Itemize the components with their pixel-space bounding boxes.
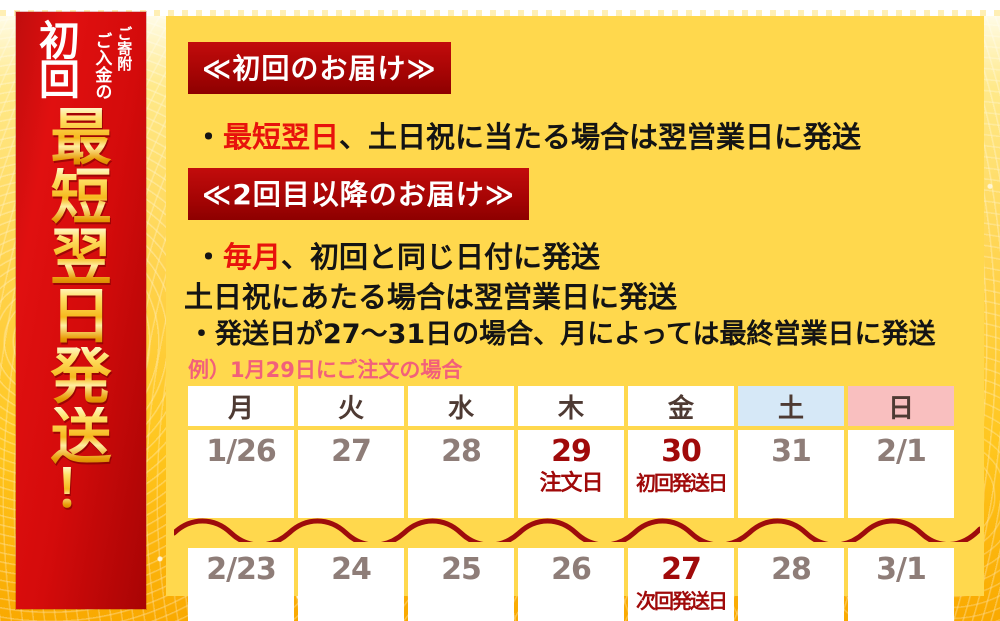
body-text: 、初回と同じ日付に発送	[281, 240, 600, 274]
calendar-cell: 24	[298, 548, 404, 621]
recurring-delivery-line-3: ・発送日が27〜31日の場合、月によっては最終営業日に発送	[188, 312, 935, 351]
first-delivery-line-1: ・最短翌日、土日祝に当たる場合は翌営業日に発送	[194, 114, 861, 156]
badge-side-label-2: ご寄附	[116, 26, 131, 71]
day-header-tue: 火	[298, 386, 404, 426]
highlight-text: 最短翌日	[223, 120, 339, 154]
date-number: 24	[331, 554, 371, 586]
headline-char-3: 日	[50, 287, 111, 347]
day-header-label: 火	[338, 388, 364, 425]
day-header-wed: 水	[408, 386, 514, 426]
badge-side-label-1: ご入金の	[92, 32, 109, 100]
date-number: 29	[551, 436, 591, 468]
day-header-label: 水	[448, 388, 474, 425]
date-number: 27	[661, 554, 701, 586]
date-tag: 初回発送日	[636, 472, 726, 494]
calendar-cell: 27	[298, 430, 404, 518]
body-text: 土日祝にあたる場合は翌営業日に発送	[184, 280, 677, 314]
calendar-cell: 31	[738, 430, 844, 518]
headline-char-2: 翌	[50, 228, 111, 288]
date-number: 28	[771, 554, 811, 586]
recurring-delivery-line-1: ・毎月、初回と同じ日付に発送	[194, 234, 600, 276]
example-label: 例）1月29日にご注文の場合	[188, 354, 462, 384]
calendar-cell: 28	[738, 548, 844, 621]
headline-char-1: 短	[50, 168, 111, 228]
day-header-sat: 土	[738, 386, 844, 426]
calendar-cell: 3/1	[848, 548, 954, 621]
calendar-cell-order-date: 29 注文日	[518, 430, 624, 518]
date-number: 27	[331, 436, 371, 468]
calendar-cell-first-ship-date: 30 初回発送日	[628, 430, 734, 518]
day-header-label: 木	[558, 388, 584, 425]
date-number: 31	[771, 436, 811, 468]
section-heading-first-delivery: ≪初回のお届け≫	[188, 42, 451, 94]
body-text: 発送日が27〜31日の場合、月によっては最終営業日に発送	[215, 319, 935, 350]
calendar-cell: 25	[408, 548, 514, 621]
promo-banner: 初回 ご入金の ご寄附 最 短 翌 日 発 送 ！ ≪初回のお届け≫ ・最短翌日…	[0, 0, 1000, 621]
date-tag: 注文日	[539, 472, 602, 496]
day-header-thu: 木	[518, 386, 624, 426]
section-heading-recurring-delivery: ≪2回目以降のお届け≫	[188, 168, 529, 220]
date-number: 28	[441, 436, 481, 468]
calendar-week-row-2: 2/23 24 25 26 27 次回発送日	[188, 548, 962, 621]
bullet-mark: ・	[194, 120, 223, 154]
day-header-label: 土	[778, 388, 804, 425]
date-tag: 次回発送日	[636, 590, 726, 612]
headline-char-6: ！	[53, 467, 109, 512]
calendar-week-row-1: 1/26 27 28 29 注文日 30 初回発送日	[188, 430, 962, 518]
bullet-mark: ・	[188, 319, 215, 350]
date-number: 2/23	[206, 554, 276, 586]
calendar-cell-next-ship-date: 27 次回発送日	[628, 548, 734, 621]
date-number: 26	[551, 554, 591, 586]
date-number: 1/26	[206, 436, 276, 468]
content-panel: ≪初回のお届け≫ ・最短翌日、土日祝に当たる場合は翌営業日に発送 ≪2回目以降の…	[166, 16, 984, 596]
date-number: 2/1	[876, 436, 926, 468]
calendar-cell: 2/1	[848, 430, 954, 518]
badge-main-label: 初回	[28, 22, 90, 101]
day-header-sun: 日	[848, 386, 954, 426]
calendar-cell: 26	[518, 548, 624, 621]
calendar-cell: 28	[408, 430, 514, 518]
headline-char-0: 最	[50, 108, 111, 168]
banner-headline: 最 短 翌 日 発 送 ！	[16, 108, 146, 603]
date-number: 25	[441, 554, 481, 586]
day-header-mon: 月	[188, 386, 294, 426]
date-number: 30	[661, 436, 701, 468]
recurring-delivery-line-2: 土日祝にあたる場合は翌営業日に発送	[184, 274, 677, 316]
day-header-label: 金	[668, 388, 694, 425]
body-text: 、土日祝に当たる場合は翌営業日に発送	[339, 120, 861, 154]
top-white-band	[0, 0, 1000, 16]
headline-char-4: 発	[50, 347, 111, 407]
calendar-cell: 1/26	[188, 430, 294, 518]
bullet-mark: ・	[194, 240, 223, 274]
day-header-label: 日	[888, 388, 914, 425]
date-number: 3/1	[876, 554, 926, 586]
calendar-header-row: 月 火 水 木 金 土 日	[188, 386, 962, 426]
highlight-text: 毎月	[223, 240, 281, 274]
day-header-label: 月	[228, 388, 254, 425]
day-header-fri: 金	[628, 386, 734, 426]
banner-badge: 初回 ご入金の ご寄附	[16, 18, 146, 110]
calendar-cell: 2/23	[188, 548, 294, 621]
wavy-divider	[174, 516, 980, 542]
example-calendar: 月 火 水 木 金 土 日 1/26 27 28	[188, 386, 962, 621]
left-red-banner: 初回 ご入金の ご寄附 最 短 翌 日 発 送 ！	[16, 12, 146, 609]
